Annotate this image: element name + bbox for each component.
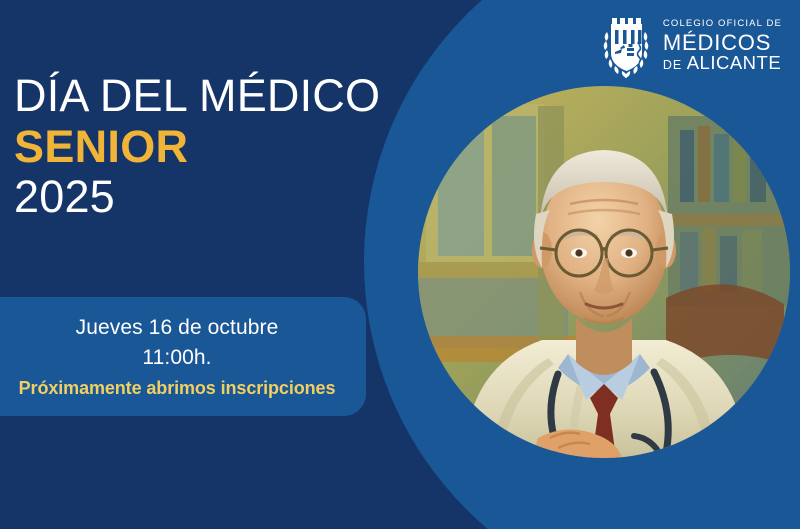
portrait-illustration [418,86,790,458]
poster-canvas: COLEGIO OFICIAL DE MÉDICOS DE ALICANTE D… [0,0,800,529]
headline-year: 2025 [14,173,454,222]
logo-line-alicante-word: ALICANTE [687,52,781,73]
alicante-coat-of-arms-icon [598,14,654,78]
logo-line-colegio-oficial: COLEGIO OFICIAL DE [663,19,782,29]
event-info-card: Jueves 16 de octubre 11:00h. Próximament… [0,297,366,416]
headline-dia-del-medico: DÍA DEL MÉDICO [14,72,454,120]
headline-block: DÍA DEL MÉDICO SENIOR 2025 [14,72,454,221]
event-time: 11:00h. [0,343,354,373]
logo-line-de: DE [663,58,682,72]
registration-note: Próximamente abrimos inscripciones [0,375,354,402]
event-date: Jueves 16 de octubre [0,313,354,343]
doctor-portrait [418,86,790,458]
logo-line-medicos: MÉDICOS [663,32,782,54]
logo-line-alicante: DE ALICANTE [663,54,782,73]
headline-senior: SENIOR [14,120,454,173]
colegio-logo: COLEGIO OFICIAL DE MÉDICOS DE ALICANTE [598,14,782,78]
logo-text-block: COLEGIO OFICIAL DE MÉDICOS DE ALICANTE [663,19,782,73]
